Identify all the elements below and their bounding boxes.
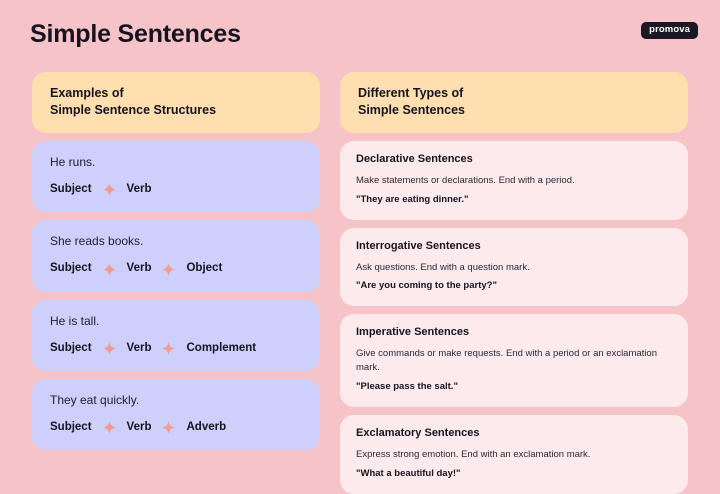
sentence-type-title: Imperative Sentences <box>356 326 672 339</box>
plus-star-icon <box>162 421 175 434</box>
sentence-type-title: Exclamatory Sentences <box>356 427 672 440</box>
formula-part: Complement <box>186 343 256 355</box>
structure-example: They eat quickly. <box>50 393 302 407</box>
formula-part: Subject <box>50 422 92 434</box>
formula-part: Subject <box>50 343 92 355</box>
sentence-type-card: Declarative Sentences Make statements or… <box>340 141 688 220</box>
sentence-type-description: Make statements or declarations. End wit… <box>356 174 672 188</box>
structure-formula: Subject Verb Adverb <box>50 421 302 434</box>
right-column-header: Different Types of Simple Sentences <box>340 72 688 133</box>
plus-star-icon <box>103 263 116 276</box>
left-column-header: Examples of Simple Sentence Structures <box>32 72 320 133</box>
sentence-type-card: Interrogative Sentences Ask questions. E… <box>340 228 688 307</box>
formula-part: Adverb <box>186 422 226 434</box>
sentence-type-example: "What a beautiful day!" <box>356 468 672 481</box>
structure-formula: Subject Verb <box>50 183 302 196</box>
left-column: Examples of Simple Sentence Structures H… <box>32 72 320 450</box>
formula-part: Verb <box>127 184 152 196</box>
sentence-type-description: Give commands or make requests. End with… <box>356 347 672 375</box>
structure-card: He is tall. Subject Verb Complement <box>32 300 320 371</box>
structure-formula: Subject Verb Complement <box>50 342 302 355</box>
sentence-type-example: "Are you coming to the party?" <box>356 280 672 293</box>
page-title: Simple Sentences <box>30 20 241 49</box>
formula-part: Subject <box>50 184 92 196</box>
infographic-poster: Simple Sentences promova Examples of Sim… <box>0 0 720 480</box>
sentence-type-title: Declarative Sentences <box>356 153 672 166</box>
formula-part: Subject <box>50 263 92 275</box>
right-column: Different Types of Simple Sentences Decl… <box>340 72 688 494</box>
structure-example: He runs. <box>50 155 302 169</box>
sentence-type-card: Imperative Sentences Give commands or ma… <box>340 314 688 407</box>
structure-card: He runs. Subject Verb <box>32 141 320 212</box>
structure-example: He is tall. <box>50 314 302 328</box>
plus-star-icon <box>162 263 175 276</box>
sentence-type-card: Exclamatory Sentences Express strong emo… <box>340 415 688 494</box>
brand-logo: promova <box>641 22 698 39</box>
left-header-line-2: Simple Sentence Structures <box>50 102 302 119</box>
structure-formula: Subject Verb Object <box>50 263 302 276</box>
right-header-line-2: Simple Sentences <box>358 102 670 119</box>
sentence-type-example: "They are eating dinner." <box>356 194 672 207</box>
formula-part: Verb <box>127 422 152 434</box>
formula-part: Verb <box>127 343 152 355</box>
plus-star-icon <box>162 342 175 355</box>
left-header-line-1: Examples of <box>50 85 302 102</box>
plus-star-icon <box>103 342 116 355</box>
formula-part: Object <box>186 263 222 275</box>
structure-example: She reads books. <box>50 234 302 248</box>
structure-card: She reads books. Subject Verb Object <box>32 220 320 291</box>
sentence-type-title: Interrogative Sentences <box>356 240 672 253</box>
sentence-type-description: Express strong emotion. End with an excl… <box>356 448 672 462</box>
formula-part: Verb <box>127 263 152 275</box>
plus-star-icon <box>103 421 116 434</box>
sentence-type-description: Ask questions. End with a question mark. <box>356 261 672 275</box>
right-header-line-1: Different Types of <box>358 85 670 102</box>
structure-card: They eat quickly. Subject Verb Adverb <box>32 379 320 450</box>
plus-star-icon <box>103 183 116 196</box>
sentence-type-example: "Please pass the salt." <box>356 381 672 394</box>
